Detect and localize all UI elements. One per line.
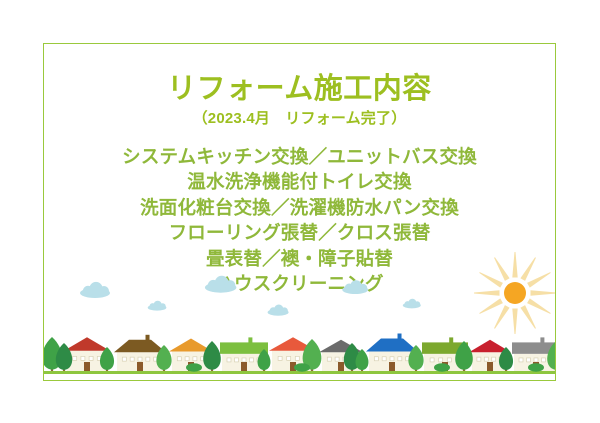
bush-icon <box>528 363 544 371</box>
sun-ray <box>512 309 517 335</box>
house-window <box>430 358 434 362</box>
sun-ray <box>520 257 536 281</box>
cloud-icon <box>403 299 421 309</box>
house-chimney <box>398 334 402 340</box>
house-window <box>250 358 254 362</box>
house-chimney <box>540 337 544 343</box>
house-window <box>130 357 134 361</box>
house-window <box>542 358 546 362</box>
sun-ray <box>479 298 503 314</box>
sun-ray <box>520 305 536 329</box>
list-item: システムキッチン交換／ユニットバス交換 <box>43 144 556 170</box>
house-window <box>193 357 197 361</box>
house-window <box>527 358 531 362</box>
house-window <box>447 358 451 362</box>
sun-ray <box>531 290 556 295</box>
house-window <box>146 357 150 361</box>
house-window <box>81 356 85 360</box>
house-door <box>338 362 344 371</box>
reform-poster: リフォーム施工内容 （2023.4月 リフォーム完了） システムキッチン交換／ユ… <box>0 0 600 423</box>
house-window <box>327 357 331 361</box>
sun-ray <box>474 290 500 295</box>
cloud-icon <box>80 282 110 298</box>
cloud-icon <box>268 305 289 316</box>
sun-ray <box>512 252 517 278</box>
house-chimney <box>146 335 150 341</box>
house-window <box>390 357 394 361</box>
house-window <box>382 357 386 361</box>
townscape-svg <box>44 250 555 381</box>
house-roof <box>64 337 110 351</box>
cloud-icon <box>342 280 368 294</box>
cloud-icon <box>148 301 167 311</box>
house-window <box>534 358 538 362</box>
house-door <box>241 362 247 371</box>
house-window <box>287 356 291 360</box>
house-window <box>374 357 378 361</box>
sun-disc <box>504 282 526 304</box>
house-window <box>492 357 496 361</box>
house-window <box>439 358 443 362</box>
house-chimney <box>449 337 453 343</box>
house-window <box>278 356 282 360</box>
bush-icon <box>434 363 450 371</box>
house-window <box>138 357 142 361</box>
cloud-icon <box>205 276 237 293</box>
page-subtitle: （2023.4月 リフォーム完了） <box>43 108 556 131</box>
sun-ray <box>527 272 551 288</box>
house-window <box>73 356 77 360</box>
page-title: リフォーム施工内容 <box>43 74 556 105</box>
sun-ray <box>479 272 503 288</box>
house-window <box>242 358 246 362</box>
house-window <box>89 356 93 360</box>
list-item: 洗面化粧台交換／洗濯機防水パン交換 <box>43 195 556 221</box>
house-window <box>235 358 239 362</box>
house-roof <box>366 339 418 352</box>
house-roof <box>114 340 166 352</box>
house-window <box>295 356 299 360</box>
house-window <box>122 357 126 361</box>
house-chimney <box>248 337 252 343</box>
house-door <box>137 362 143 371</box>
house-door <box>389 362 395 371</box>
list-item: フローリング張替／クロス張替 <box>43 220 556 246</box>
bush-icon <box>186 363 202 371</box>
house-door <box>84 362 90 371</box>
house-window <box>335 357 339 361</box>
bush-icon <box>294 363 310 371</box>
sun-ray <box>494 257 510 281</box>
house-window <box>177 357 181 361</box>
sun-ray <box>494 305 510 329</box>
house-window <box>227 358 231 362</box>
house-window <box>484 357 488 361</box>
sun-ray <box>527 298 551 314</box>
house-window <box>185 357 189 361</box>
sun-icon <box>474 252 555 334</box>
house-window <box>398 357 402 361</box>
house-door <box>487 362 493 371</box>
house-window <box>477 357 481 361</box>
townscape-illustration <box>44 250 555 381</box>
house-roof <box>220 342 268 353</box>
list-item: 温水洗浄機能付トイレ交換 <box>43 169 556 195</box>
tree-icon <box>203 341 221 371</box>
house-window <box>519 358 523 362</box>
